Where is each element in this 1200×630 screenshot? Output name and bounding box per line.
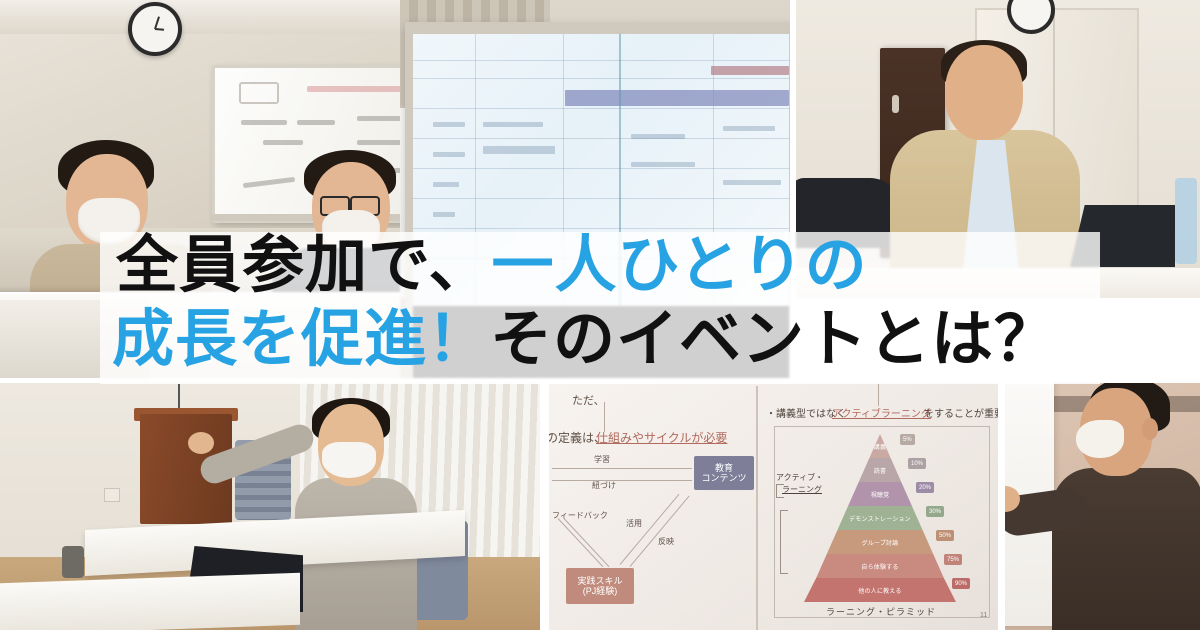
arrow-label-reflect: 反映 bbox=[658, 538, 674, 546]
whiteboard-box-note bbox=[239, 82, 279, 104]
bracket-top bbox=[776, 484, 777, 498]
spreadsheet-cell-text bbox=[433, 182, 459, 187]
face-mask bbox=[1076, 420, 1124, 458]
whiteboard-scribble bbox=[263, 140, 303, 145]
slide-headline-underline: 仕組みやサイクルが必要 bbox=[596, 432, 727, 445]
spreadsheet-cell-text bbox=[433, 152, 465, 157]
value-label: 10% bbox=[911, 461, 923, 467]
note-arrow bbox=[604, 402, 605, 432]
headline-line-1: 全員参加で、 一人ひとりの bbox=[100, 228, 1116, 304]
pyramid-layer-label: 読書 bbox=[874, 466, 886, 475]
spreadsheet-row-line bbox=[413, 60, 789, 61]
value-label: 5% bbox=[903, 437, 912, 443]
pyramid-layer: 他の人に教える bbox=[804, 578, 956, 602]
pyramid-caption: ラーニング・ピラミッド bbox=[826, 608, 936, 617]
value-label: 50% bbox=[939, 533, 951, 539]
spreadsheet-header-band bbox=[711, 66, 789, 75]
slide-note: ただ、 bbox=[572, 396, 605, 408]
practical-skill-box: 実践スキル (PJ経験) bbox=[566, 568, 634, 604]
water-bottle bbox=[1175, 178, 1197, 264]
hand bbox=[188, 432, 214, 454]
arrow-link bbox=[552, 480, 692, 481]
slide-page-number: 11 bbox=[980, 612, 987, 619]
spreadsheet-cell-text bbox=[631, 134, 685, 139]
spreadsheet-cell-text bbox=[433, 212, 455, 217]
box-line-1: 教育 bbox=[715, 463, 733, 473]
box-line-2: (PJ経験) bbox=[583, 586, 618, 596]
box-line-2: コンテンツ bbox=[701, 473, 746, 483]
bracket-bottom bbox=[780, 510, 781, 574]
education-content-box: 教育 コンテンツ bbox=[694, 456, 754, 490]
face-mask bbox=[322, 442, 376, 478]
whiteboard-scribble bbox=[297, 120, 335, 125]
arrow-label-apply: 活用 bbox=[626, 520, 642, 528]
spreadsheet-cell-text bbox=[631, 162, 695, 167]
wall-clock-icon bbox=[128, 2, 182, 56]
learning-pyramid-chart: 講義 読書 視聴覚 デモンストレーション グループ討論 自ら体験する 他の人に教… bbox=[804, 434, 956, 602]
slide-divider bbox=[756, 386, 758, 630]
slide-right-headline-suffix: をすることが重要 bbox=[924, 410, 1000, 421]
pyramid-layer-label: 他の人に教える bbox=[858, 586, 901, 595]
door-handle bbox=[892, 95, 899, 113]
spreadsheet-header-band bbox=[565, 90, 789, 106]
pyramid-layer-label: 講義 bbox=[874, 442, 886, 451]
pyramid-value-badge: 90% bbox=[952, 578, 970, 589]
whiteboard-scribble bbox=[241, 120, 287, 125]
collage-banner: ただ、 の定義は、 仕組みやサイクルが必要 教育 コンテンツ 実践スキル (PJ… bbox=[0, 0, 1200, 630]
headline-line-2: 成長を促進！ そのイベントとは？ bbox=[100, 302, 1112, 378]
arrow-label-feedback: フィードバック bbox=[552, 512, 608, 520]
spreadsheet-row-line bbox=[413, 108, 789, 109]
spreadsheet-cell-text bbox=[483, 146, 555, 154]
photo-bottom-right bbox=[1004, 382, 1200, 630]
slide-top-arrow bbox=[878, 384, 879, 406]
spreadsheet-row-line bbox=[413, 198, 789, 199]
photo-bottom-center-slide: ただ、 の定義は、 仕組みやサイクルが必要 教育 コンテンツ 実践スキル (PJ… bbox=[548, 382, 1000, 630]
value-label: 20% bbox=[919, 485, 931, 491]
whiteboard-scribble bbox=[243, 177, 295, 188]
value-label: 30% bbox=[929, 509, 941, 515]
pyramid-value-badge: 10% bbox=[908, 458, 926, 469]
arrow-learn bbox=[552, 468, 692, 469]
box-line-1: 実践スキル bbox=[577, 576, 622, 586]
wall-outlet bbox=[104, 488, 120, 502]
slide-right-headline-underline: アクティブラーニング bbox=[832, 410, 931, 421]
pyramid-layer: 自ら体験する bbox=[804, 554, 956, 578]
pyramid-value-badge: 75% bbox=[944, 554, 962, 565]
spreadsheet-row-line bbox=[413, 168, 789, 169]
pyramid-layer-label: 視聴覚 bbox=[871, 490, 890, 499]
ear bbox=[1142, 418, 1158, 440]
active-learning-bracket-label-2: ラーニング bbox=[782, 486, 822, 494]
speaker-box bbox=[62, 546, 84, 578]
value-label: 90% bbox=[955, 581, 967, 587]
headline-overlay: 全員参加で、 一人ひとりの 成長を促進！ そのイベントとは？ bbox=[100, 232, 1100, 384]
spreadsheet-cell-text bbox=[723, 126, 775, 131]
pyramid-layer-label: デモンストレーション bbox=[849, 514, 911, 523]
spreadsheet-row-line bbox=[413, 138, 789, 139]
arrow-label-learn: 学習 bbox=[594, 456, 610, 464]
pyramid-layer: 読書 bbox=[804, 458, 956, 482]
pyramid-layer-label: 自ら体験する bbox=[861, 562, 898, 571]
pyramid-layer-label: グループ討論 bbox=[862, 538, 899, 547]
photo-bottom-left bbox=[0, 382, 540, 630]
pyramid-value-badge: 5% bbox=[900, 434, 915, 445]
face bbox=[945, 45, 1023, 140]
spreadsheet-cell-text bbox=[433, 122, 465, 127]
headline-line1-black: 全員参加で、 bbox=[116, 235, 492, 297]
front-table bbox=[0, 573, 300, 630]
gutter-vertical-bottom-1 bbox=[540, 382, 549, 630]
arrow-label-link: 紐づけ bbox=[592, 482, 616, 490]
spreadsheet-row-line bbox=[413, 78, 789, 79]
pyramid-value-badge: 50% bbox=[936, 530, 954, 541]
pyramid-layer: グループ討論 bbox=[804, 530, 956, 554]
pyramid-value-badge: 20% bbox=[916, 482, 934, 493]
spreadsheet-cell-text bbox=[723, 180, 781, 185]
spreadsheet-cell-text bbox=[483, 122, 543, 127]
pyramid-layer: 講義 bbox=[804, 434, 956, 458]
headline-line2-black: そのイベントとは？ bbox=[490, 309, 1057, 371]
value-label: 75% bbox=[947, 557, 959, 563]
pyramid-value-badge: 30% bbox=[926, 506, 944, 517]
active-learning-bracket-label-1: アクティブ・ bbox=[776, 474, 823, 482]
gutter-vertical-bottom-2 bbox=[998, 382, 1005, 630]
headline-line2-blue: 成長を促進！ bbox=[112, 309, 490, 371]
headline-line1-blue: 一人ひとりの bbox=[492, 235, 868, 297]
